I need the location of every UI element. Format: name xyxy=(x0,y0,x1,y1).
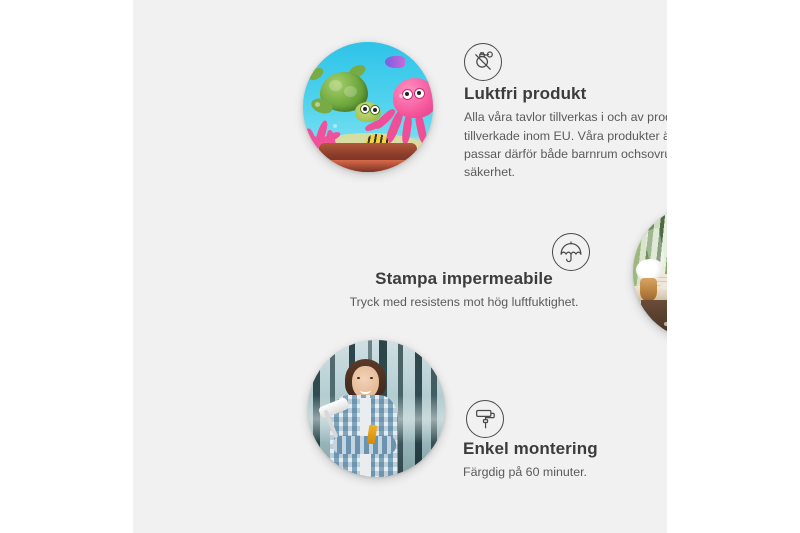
feature-description: Tryck med resistens mot hög luftfuktighe… xyxy=(333,293,595,311)
feature-title: Enkel montering xyxy=(463,438,645,459)
feature-text-waterproof-print: Stampa impermeabile Tryck med resistens … xyxy=(333,268,595,312)
purple-fish-icon xyxy=(385,56,405,68)
octopus-eye xyxy=(402,89,413,100)
room-foreground xyxy=(319,143,418,172)
copper-vase xyxy=(640,278,658,301)
turtle-eye xyxy=(370,105,380,115)
octopus-eye xyxy=(414,88,425,99)
feature-description: Alla våra tavlor tillverkas i och av pro… xyxy=(464,108,667,181)
bubble xyxy=(333,124,337,128)
underwater-kids-scene-photo xyxy=(303,42,433,172)
content-panel: Luktfri produkt Alla våra tavlor tillver… xyxy=(133,0,667,533)
woman-folded-arms xyxy=(333,436,396,454)
forest-scene xyxy=(308,340,445,477)
bubble xyxy=(315,102,320,107)
bathroom-tropical-wallpaper-photo xyxy=(633,205,667,340)
woman-painter-forest-photo xyxy=(308,340,445,477)
paint-roller-icon xyxy=(466,400,504,438)
infographic-canvas: Luktfri produkt Alla våra tavlor tillver… xyxy=(0,0,800,533)
woman-smile xyxy=(360,387,371,394)
feature-title: Stampa impermeabile xyxy=(333,268,595,289)
feature-text-easy-mounting: Enkel montering Färgdig på 60 minuter. xyxy=(463,438,645,482)
feature-description: Färgdig på 60 minuter. xyxy=(463,463,645,481)
turtle-eye xyxy=(360,104,370,114)
feature-title: Luktfri produkt xyxy=(464,83,667,104)
ocean-illustration xyxy=(303,42,433,172)
octopus-head xyxy=(393,78,433,118)
bubble xyxy=(399,94,403,98)
feature-text-odour-free: Luktfri produkt Alla våra tavlor tillver… xyxy=(464,83,667,182)
bathroom-scene xyxy=(633,205,667,340)
woman-eye xyxy=(370,377,373,379)
no-odour-perfume-bottle-icon xyxy=(464,43,502,81)
wooden-vanity-cabinet xyxy=(641,300,667,341)
umbrella-icon xyxy=(552,233,590,271)
